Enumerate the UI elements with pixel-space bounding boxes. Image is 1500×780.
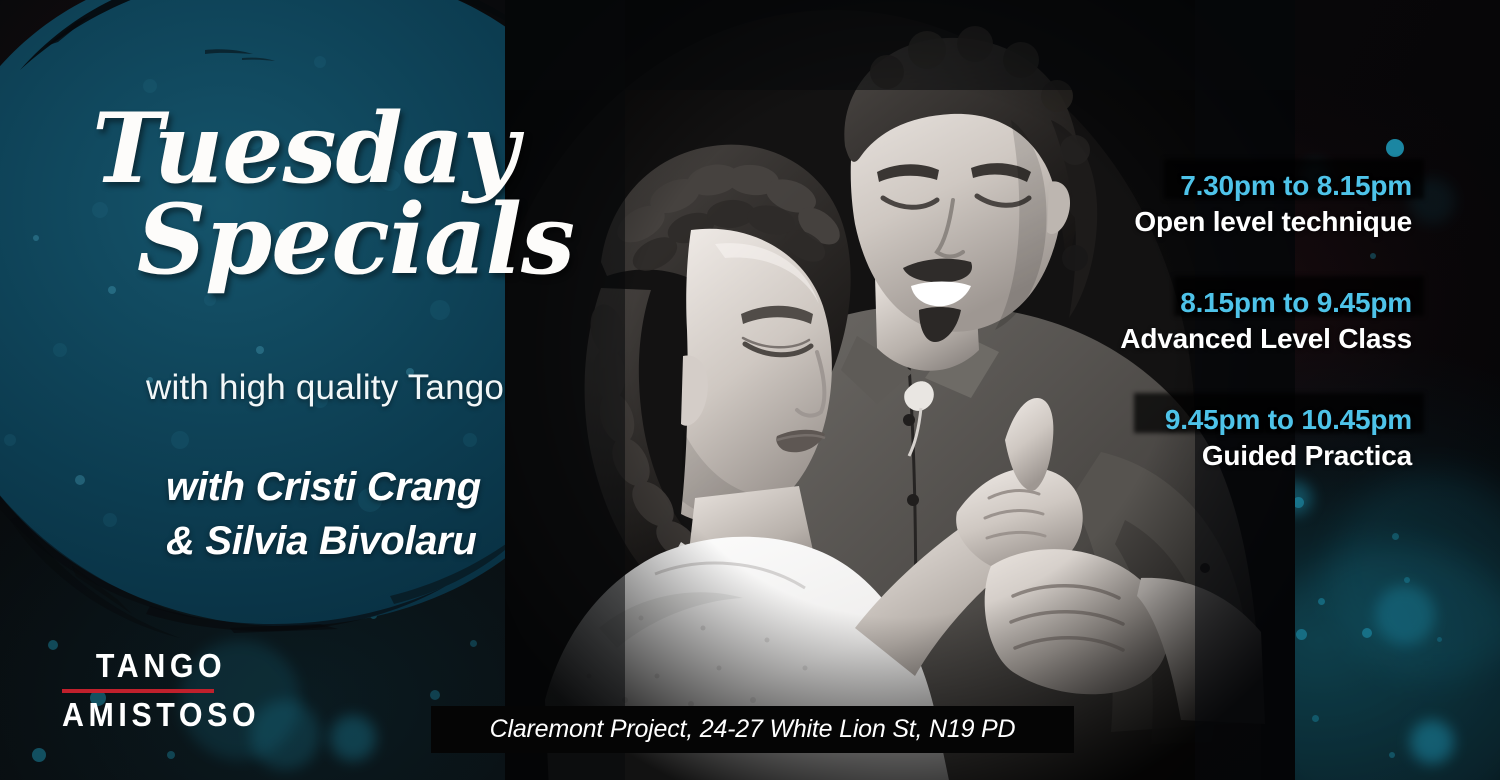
presenter-line-1: with Cristi Crang <box>166 460 481 514</box>
schedule-item: 8.15pm to 9.45pm Advanced Level Class <box>1072 285 1412 358</box>
schedule-item-time: 9.45pm to 10.45pm <box>1072 402 1412 438</box>
subtitle: with high quality Tango <box>146 368 504 408</box>
schedule-item-time: 7.30pm to 8.15pm <box>1072 168 1412 204</box>
venue-address-band: Claremont Project, 24-27 White Lion St, … <box>431 706 1074 753</box>
schedule-item: 7.30pm to 8.15pm Open level technique <box>1072 168 1412 241</box>
schedule-list: 7.30pm to 8.15pm Open level technique 8.… <box>1072 168 1412 474</box>
presenter-line-2: & Silvia Bivolaru <box>166 514 481 568</box>
schedule-item-name: Guided Practica <box>1072 438 1412 474</box>
logo-divider-rule <box>62 689 214 693</box>
headline-line-1: Tuesday <box>92 104 592 193</box>
schedule-item-name: Open level technique <box>1072 204 1412 240</box>
headline-line-2: Specials <box>92 195 592 284</box>
tango-amistoso-logo[interactable]: TANGO AMISTOSO <box>62 648 277 734</box>
presenters: with Cristi Crang & Silvia Bivolaru <box>166 460 481 568</box>
venue-address-text: Claremont Project, 24-27 White Lion St, … <box>490 715 1016 744</box>
headline: Tuesday Specials <box>92 104 592 285</box>
logo-word-tango: TANGO <box>62 648 260 685</box>
schedule-item-name: Advanced Level Class <box>1072 321 1412 357</box>
schedule-item-time: 8.15pm to 9.45pm <box>1072 285 1412 321</box>
logo-word-amistoso: AMISTOSO <box>62 697 260 734</box>
promo-banner: Tuesday Specials with high quality Tango… <box>0 0 1500 780</box>
schedule-item: 9.45pm to 10.45pm Guided Practica <box>1072 402 1412 475</box>
